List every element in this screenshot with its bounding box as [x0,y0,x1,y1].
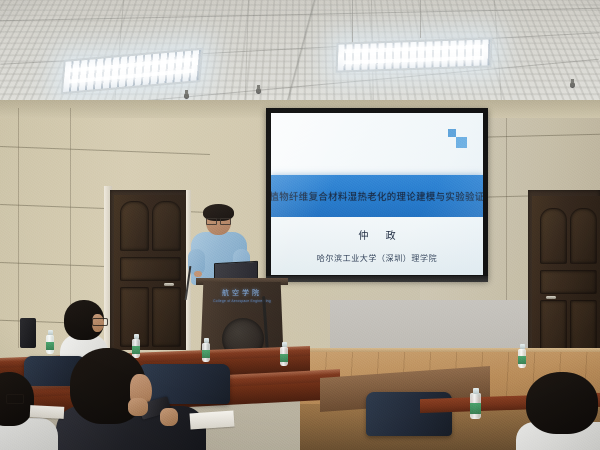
audience-hand [128,398,148,416]
audience-glasses [92,318,108,326]
podium-venue-label: 航空学院 [208,288,276,298]
audience-hand [160,408,178,426]
av-speaker-box [20,318,36,348]
water-bottle [46,330,54,354]
decor-square-large [456,137,467,148]
sprinkler-right [570,82,575,87]
water-bottle [518,344,526,368]
screen-bottom-bar [266,276,488,282]
projection-screen: 植物纤维复合材料湿热老化的理论建模与实验验证 仲 政 哈尔滨工业大学（深圳）理学… [266,108,488,280]
light-hanger-a [352,0,353,42]
handout-paper [189,410,234,429]
presentation-slide: 植物纤维复合材料湿热老化的理论建模与实验验证 仲 政 哈尔滨工业大学（深圳）理学… [271,113,483,275]
water-bottle [280,342,288,366]
podium-venue-label-en: College of Aerospace Engineering [204,299,280,303]
slide-affiliation: 哈尔滨工业大学（深圳）理学院 [317,253,437,264]
slide-title: 植物纤维复合材料湿热老化的理论建模与实验验证 [271,188,483,203]
slide-footer-area: 仲 政 哈尔滨工业大学（深圳）理学院 [271,217,483,275]
water-bottle [202,338,210,362]
audience-right [520,372,600,450]
light-hanger-b [420,0,421,38]
ceiling-light-right [336,37,493,72]
slide-header-area [271,113,483,175]
door-right-handle [546,296,556,299]
lecture-hall-photograph: 植物纤维复合材料湿热老化的理论建模与实验验证 仲 政 哈尔滨工业大学（深圳）理学… [0,0,600,450]
decor-square-small [448,129,456,137]
door-left[interactable] [114,195,186,350]
sprinkler-center [256,88,261,93]
door-left-handle [164,283,174,286]
slide-presenter-name: 仲 政 [351,227,402,242]
sprinkler-left [184,93,189,98]
slide-title-band: 植物纤维复合材料湿热老化的理论建模与实验验证 [271,175,483,217]
water-bottle [470,388,481,420]
audience-right-shoulder [566,336,600,382]
handout-paper [30,405,65,419]
audience-front-center [56,348,196,450]
speaker-glasses [206,218,231,223]
